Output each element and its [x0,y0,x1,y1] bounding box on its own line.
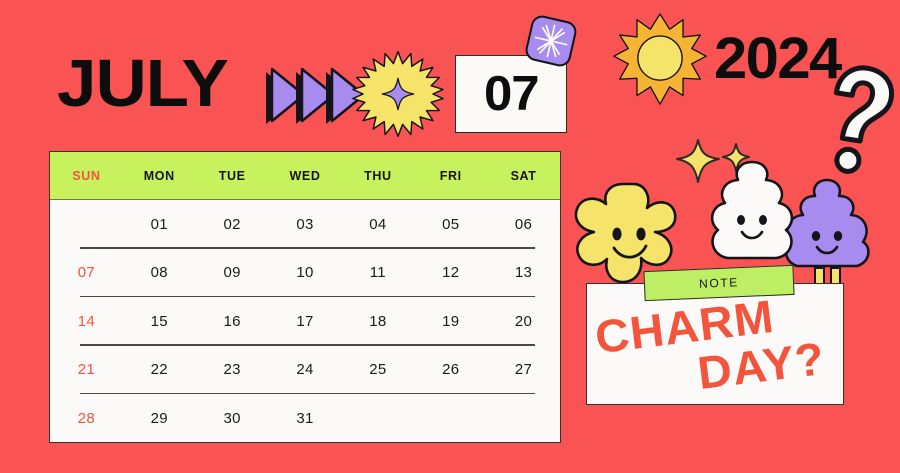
calendar-day-cell[interactable]: 27 [487,361,560,378]
day-number: 07 [484,66,539,122]
weekday-thu: THU [341,169,414,183]
calendar-day-cell[interactable]: 06 [487,216,560,233]
question-mark-icon [812,62,898,182]
calendar-day-cell[interactable]: 18 [341,313,414,330]
calendar-weekday-header: SUN MON TUE WED THU FRI SAT [50,152,560,200]
note-tape-text: NOTE [699,275,739,291]
calendar-day-cell[interactable]: 08 [123,264,196,281]
calendar-day-cell[interactable]: 09 [196,264,269,281]
calendar-day-cell[interactable]: 11 [341,264,414,281]
starburst-sun-icon [352,48,444,140]
calendar-day-cell[interactable]: 20 [487,313,560,330]
sun-icon [612,12,708,108]
calendar-day-cell[interactable]: 01 [123,216,196,233]
triple-chevron-right-icon [258,62,366,134]
calendar-day-cell[interactable]: 23 [196,361,269,378]
calendar-day-cell[interactable]: 28 [50,410,123,427]
weekday-fri: FRI [414,169,487,183]
sparkle-badge-icon [524,14,578,68]
calendar-day-cell[interactable]: 19 [414,313,487,330]
calendar-week-row: 14 15 16 17 18 19 20 [50,297,560,346]
calendar-week-row: 07 08 09 10 11 12 13 [50,249,560,298]
calendar-day-cell[interactable]: 10 [269,264,342,281]
calendar-day-cell[interactable]: 05 [414,216,487,233]
calendar-grid[interactable]: SUN MON TUE WED THU FRI SAT 01 02 03 04 … [49,151,561,443]
calendar-day-cell[interactable]: 25 [341,361,414,378]
weekday-tue: TUE [196,169,269,183]
weekday-mon: MON [123,169,196,183]
weekday-sun: SUN [50,169,123,183]
weekday-sat: SAT [487,169,560,183]
calendar-day-cell[interactable]: 29 [123,410,196,427]
calendar-day-cell[interactable]: 13 [487,264,560,281]
weekday-wed: WED [269,169,342,183]
calendar-week-row: 21 22 23 24 25 26 27 [50,346,560,395]
calendar-day-cell[interactable]: 22 [123,361,196,378]
calendar-week-row: 01 02 03 04 05 06 [50,200,560,249]
calendar-day-cell[interactable]: 21 [50,361,123,378]
calendar-day-cell[interactable]: 30 [196,410,269,427]
poster-canvas: JULY 07 [0,0,900,473]
calendar-week-row: 28 29 30 31 [50,394,560,443]
calendar-day-cell[interactable]: 03 [269,216,342,233]
calendar-day-cell[interactable]: 24 [269,361,342,378]
calendar-day-cell[interactable]: 12 [414,264,487,281]
calendar-day-cell[interactable]: 07 [50,264,123,281]
calendar-day-cell[interactable]: 15 [123,313,196,330]
month-title: JULY [57,50,228,117]
calendar-day-cell[interactable]: 02 [196,216,269,233]
note-tape-label: NOTE [643,265,794,301]
calendar-day-cell[interactable]: 17 [269,313,342,330]
calendar-weeks: 01 02 03 04 05 06 07 08 09 10 11 12 13 1… [50,200,560,443]
calendar-day-cell[interactable]: 04 [341,216,414,233]
calendar-day-cell[interactable]: 26 [414,361,487,378]
note-card [586,283,844,405]
calendar-day-cell[interactable]: 16 [196,313,269,330]
calendar-day-cell[interactable]: 31 [269,410,342,427]
calendar-day-cell[interactable]: 14 [50,313,123,330]
